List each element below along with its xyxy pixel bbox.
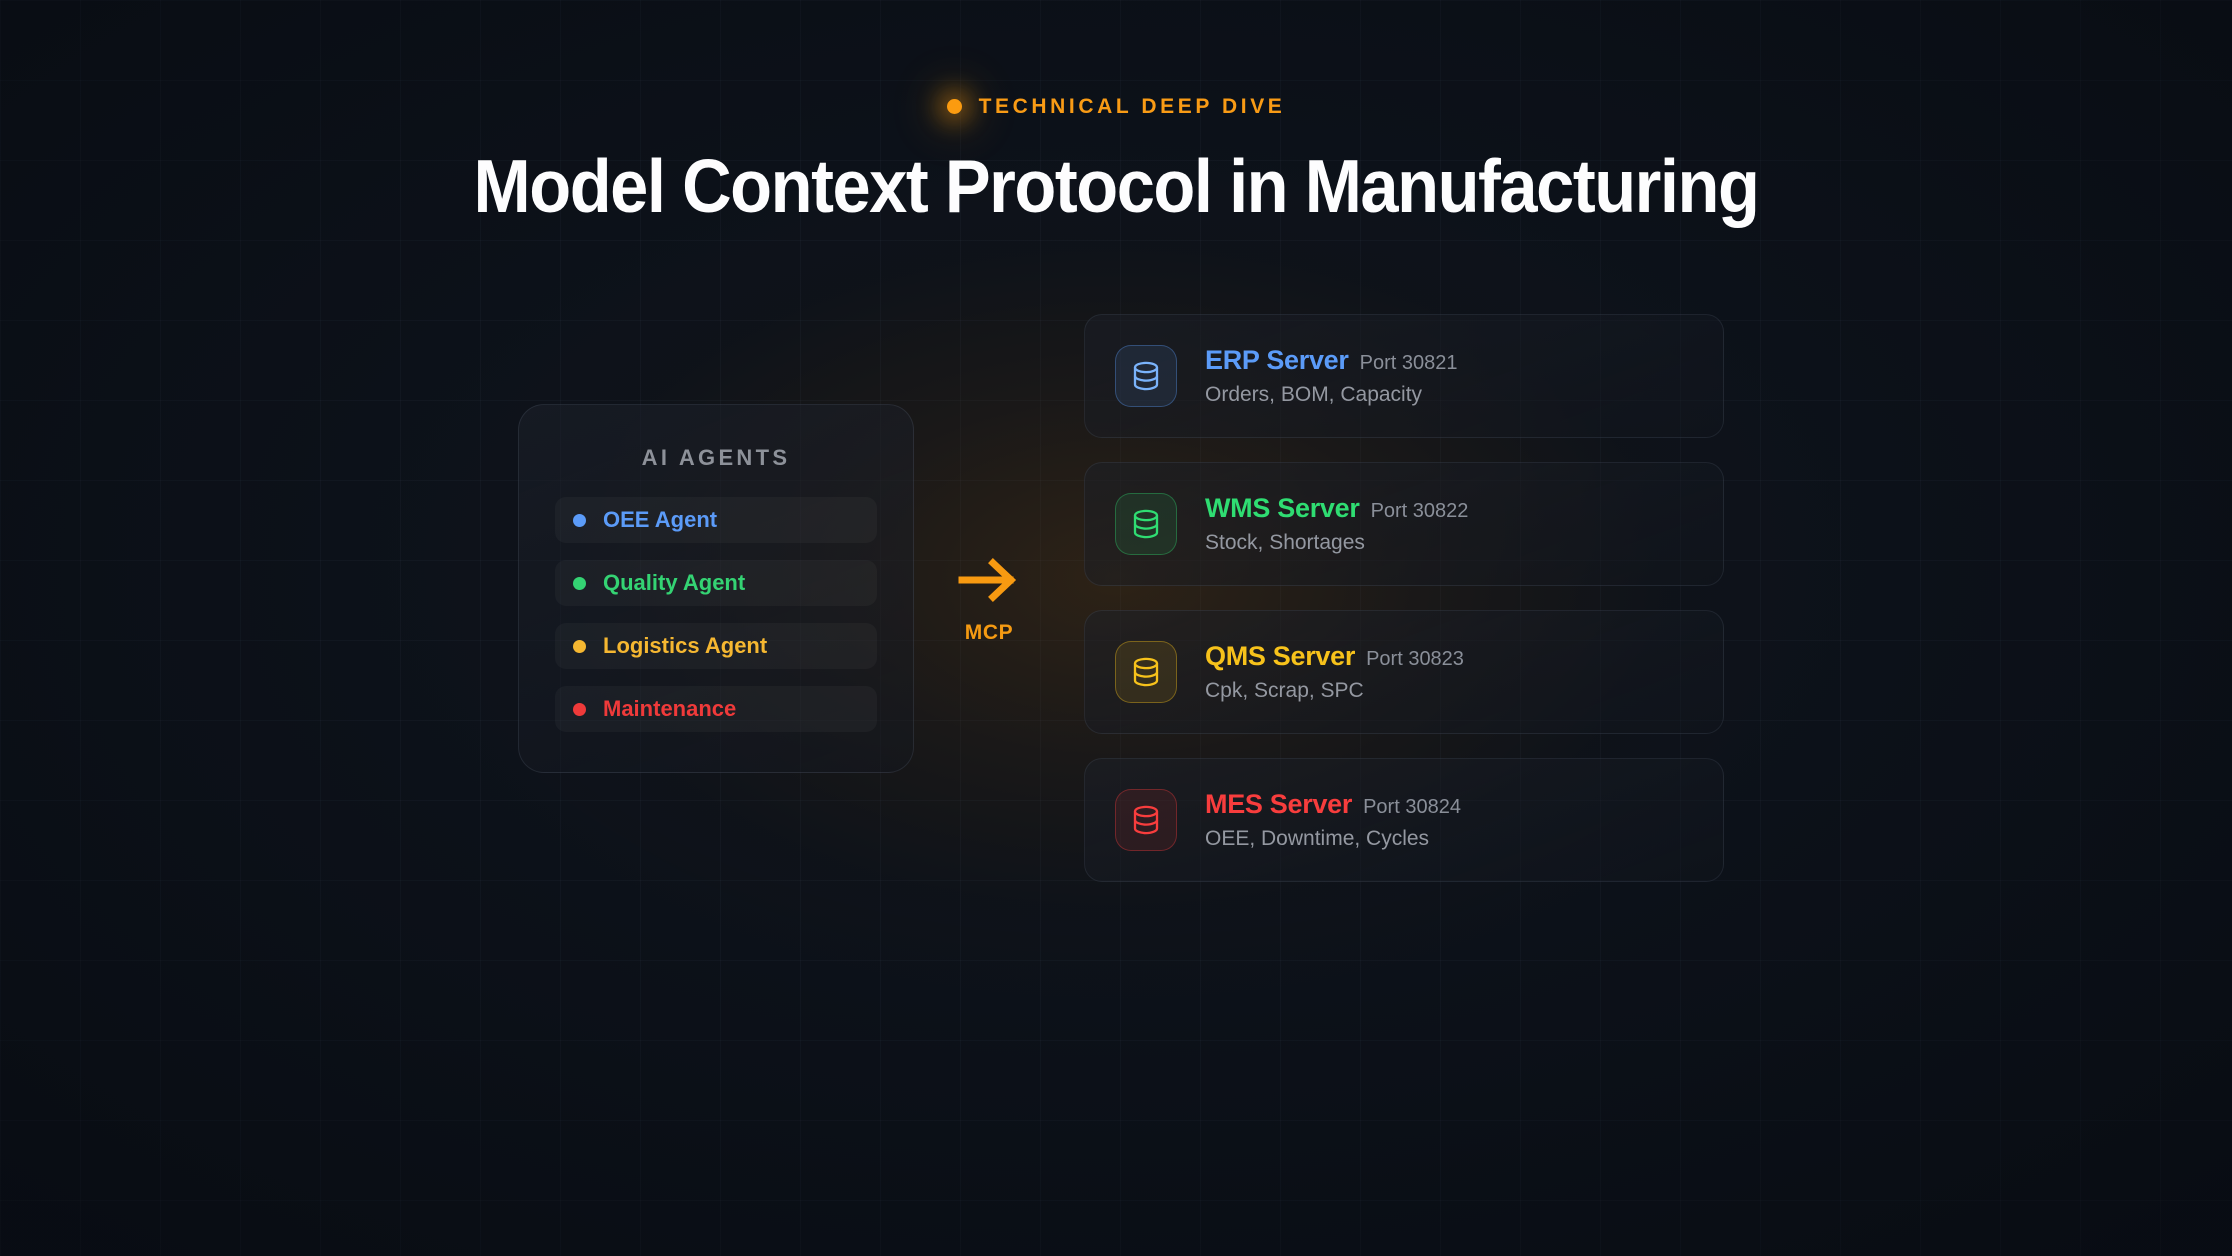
database-icon (1131, 656, 1161, 688)
database-icon (1131, 360, 1161, 392)
server-card-qms[interactable]: QMS Server Port 30823 Cpk, Scrap, SPC (1084, 610, 1724, 734)
status-dot-icon (573, 577, 586, 590)
server-subtitle: OEE, Downtime, Cycles (1205, 828, 1461, 849)
agent-label: OEE Agent (603, 509, 717, 531)
agent-row-oee[interactable]: OEE Agent (555, 497, 877, 543)
server-card-mes[interactable]: MES Server Port 30824 OEE, Downtime, Cyc… (1084, 758, 1724, 882)
server-subtitle: Stock, Shortages (1205, 532, 1468, 553)
server-port: Port 30824 (1363, 797, 1461, 817)
server-name: WMS Server (1205, 495, 1360, 522)
status-dot-icon (573, 514, 586, 527)
server-text: ERP Server Port 30821 Orders, BOM, Capac… (1205, 347, 1457, 405)
dot-icon (947, 99, 962, 114)
server-text: WMS Server Port 30822 Stock, Shortages (1205, 495, 1468, 553)
server-heading: ERP Server Port 30821 (1205, 347, 1457, 374)
server-icon-tile (1115, 493, 1177, 555)
agent-label: Logistics Agent (603, 635, 767, 657)
server-name: MES Server (1205, 791, 1352, 818)
server-text: MES Server Port 30824 OEE, Downtime, Cyc… (1205, 791, 1461, 849)
server-heading: WMS Server Port 30822 (1205, 495, 1468, 522)
status-dot-icon (573, 703, 586, 716)
eyebrow-badge: TECHNICAL DEEP DIVE (947, 96, 1286, 117)
server-icon-tile (1115, 345, 1177, 407)
server-port: Port 30821 (1360, 353, 1458, 373)
database-icon (1131, 804, 1161, 836)
server-text: QMS Server Port 30823 Cpk, Scrap, SPC (1205, 643, 1464, 701)
page-header: TECHNICAL DEEP DIVE Model Context Protoc… (0, 96, 2232, 227)
ai-agents-panel: AI AGENTS OEE Agent Quality Agent Logist… (518, 404, 914, 773)
server-port: Port 30823 (1366, 649, 1464, 669)
server-card-wms[interactable]: WMS Server Port 30822 Stock, Shortages (1084, 462, 1724, 586)
mcp-label: MCP (965, 621, 1013, 645)
database-icon (1131, 508, 1161, 540)
server-port: Port 30822 (1371, 501, 1469, 521)
status-dot-icon (573, 640, 586, 653)
page-title: Model Context Protocol in Manufacturing (95, 146, 2137, 227)
mcp-servers-list: ERP Server Port 30821 Orders, BOM, Capac… (1084, 314, 1724, 882)
agent-row-maintenance[interactable]: Maintenance (555, 686, 877, 732)
agent-label: Quality Agent (603, 572, 745, 594)
server-heading: MES Server Port 30824 (1205, 791, 1461, 818)
server-heading: QMS Server Port 30823 (1205, 643, 1464, 670)
agent-row-logistics[interactable]: Logistics Agent (555, 623, 877, 669)
server-icon-tile (1115, 641, 1177, 703)
server-icon-tile (1115, 789, 1177, 851)
agent-label: Maintenance (603, 698, 736, 720)
agent-row-quality[interactable]: Quality Agent (555, 560, 877, 606)
server-subtitle: Orders, BOM, Capacity (1205, 384, 1457, 405)
mcp-connector: MCP (914, 556, 1064, 645)
architecture-diagram: AI AGENTS OEE Agent Quality Agent Logist… (518, 404, 1724, 882)
server-name: QMS Server (1205, 643, 1355, 670)
eyebrow-label: TECHNICAL DEEP DIVE (979, 96, 1286, 117)
server-subtitle: Cpk, Scrap, SPC (1205, 680, 1464, 701)
server-card-erp[interactable]: ERP Server Port 30821 Orders, BOM, Capac… (1084, 314, 1724, 438)
arrow-right-icon (958, 556, 1020, 604)
ai-agents-title: AI AGENTS (555, 445, 877, 471)
server-name: ERP Server (1205, 347, 1349, 374)
